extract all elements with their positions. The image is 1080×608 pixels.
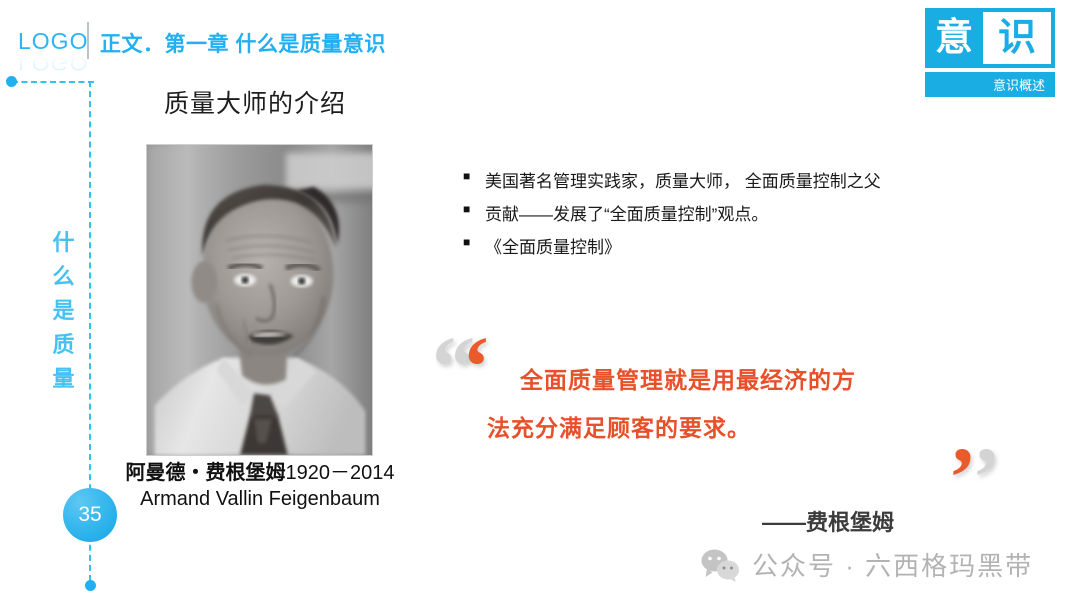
chapter-badge-subtitle: 意识概述 xyxy=(925,72,1055,97)
quote-attribution: ——费根堡姆 xyxy=(762,505,894,537)
quote-line-1: 全面质量管理就是用最经济的方 xyxy=(520,356,990,404)
slide-canvas: LOGO LOGO 正文．第一章 什么是质量意识 意 识 意识概述 什么是质量 … xyxy=(0,0,1080,608)
chapter-badge-main: 意 识 xyxy=(925,8,1055,68)
list-item: ■ 美国著名管理实践家，质量大师， 全面质量控制之父 xyxy=(463,165,1023,198)
sidebar-vertical-label: 什么是质量 xyxy=(51,226,77,396)
quote-close-mark-accent-icon: ’ xyxy=(948,444,975,511)
chapter-badge: 意 识 意识概述 xyxy=(925,8,1055,97)
bullet-square-icon: ■ xyxy=(463,165,485,188)
header-divider xyxy=(87,22,89,59)
logo-reflection: LOGO xyxy=(18,52,88,75)
footer-watermark: 公众号 · 六西格玛黑带 xyxy=(700,546,1033,583)
rail-dot-bottom-icon xyxy=(85,580,96,591)
portrait-photo xyxy=(146,144,373,456)
photo-caption: 阿曼德・费根堡姆1920－2014 Armand Vallin Feigenba… xyxy=(100,460,420,513)
bullet-list: ■ 美国著名管理实践家，质量大师， 全面质量控制之父 ■ 贡献——发展了“全面质… xyxy=(463,165,1023,264)
list-item: ■ 贡献——发展了“全面质量控制”观点。 xyxy=(463,198,1023,231)
dashed-line-horizontal xyxy=(12,81,94,83)
chapter-badge-char-1: 意 xyxy=(925,8,983,68)
bullet-square-icon: ■ xyxy=(463,231,485,254)
list-item: ■ 《全面质量控制》 xyxy=(463,231,1023,264)
list-item-label: 贡献——发展了“全面质量控制”观点。 xyxy=(485,198,768,231)
logo-text: LOGO xyxy=(18,28,88,55)
quote-open-glyph-orange: ‘ xyxy=(462,318,489,414)
quote-line-2: 法充分满足顾客的要求。 xyxy=(487,404,990,452)
caption-line-primary: 阿曼德・费根堡姆1920－2014 xyxy=(100,460,420,486)
chapter-badge-char-2: 识 xyxy=(983,12,1051,64)
list-item-label: 美国著名管理实践家，质量大师， 全面质量控制之父 xyxy=(485,165,881,198)
caption-name-cn: 阿曼德・费根堡姆 xyxy=(126,462,286,484)
quote-open-mark-accent-icon: ‘ xyxy=(462,333,489,400)
wechat-icon xyxy=(700,548,740,582)
header-title: 正文．第一章 什么是质量意识 xyxy=(100,28,386,58)
bullet-square-icon: ■ xyxy=(463,198,485,221)
footer-text: 公众号 · 六西格玛黑带 xyxy=(752,546,1033,583)
section-title: 质量大师的介绍 xyxy=(164,84,346,120)
rail-dot-top-icon xyxy=(6,76,17,87)
quote-close-mark-icon: ’ xyxy=(972,444,999,511)
quote-close-glyph-orange: ’ xyxy=(948,429,975,525)
list-item-label: 《全面质量控制》 xyxy=(485,231,621,264)
caption-name-en: Armand Vallin Feigenbaum xyxy=(100,486,420,513)
portrait-photo-graphic xyxy=(147,145,372,455)
caption-years: 1920－2014 xyxy=(286,462,395,484)
quote-close-glyph-grey: ’ xyxy=(972,429,999,525)
quote-text: 全面质量管理就是用最经济的方 法充分满足顾客的要求。 xyxy=(520,356,990,453)
